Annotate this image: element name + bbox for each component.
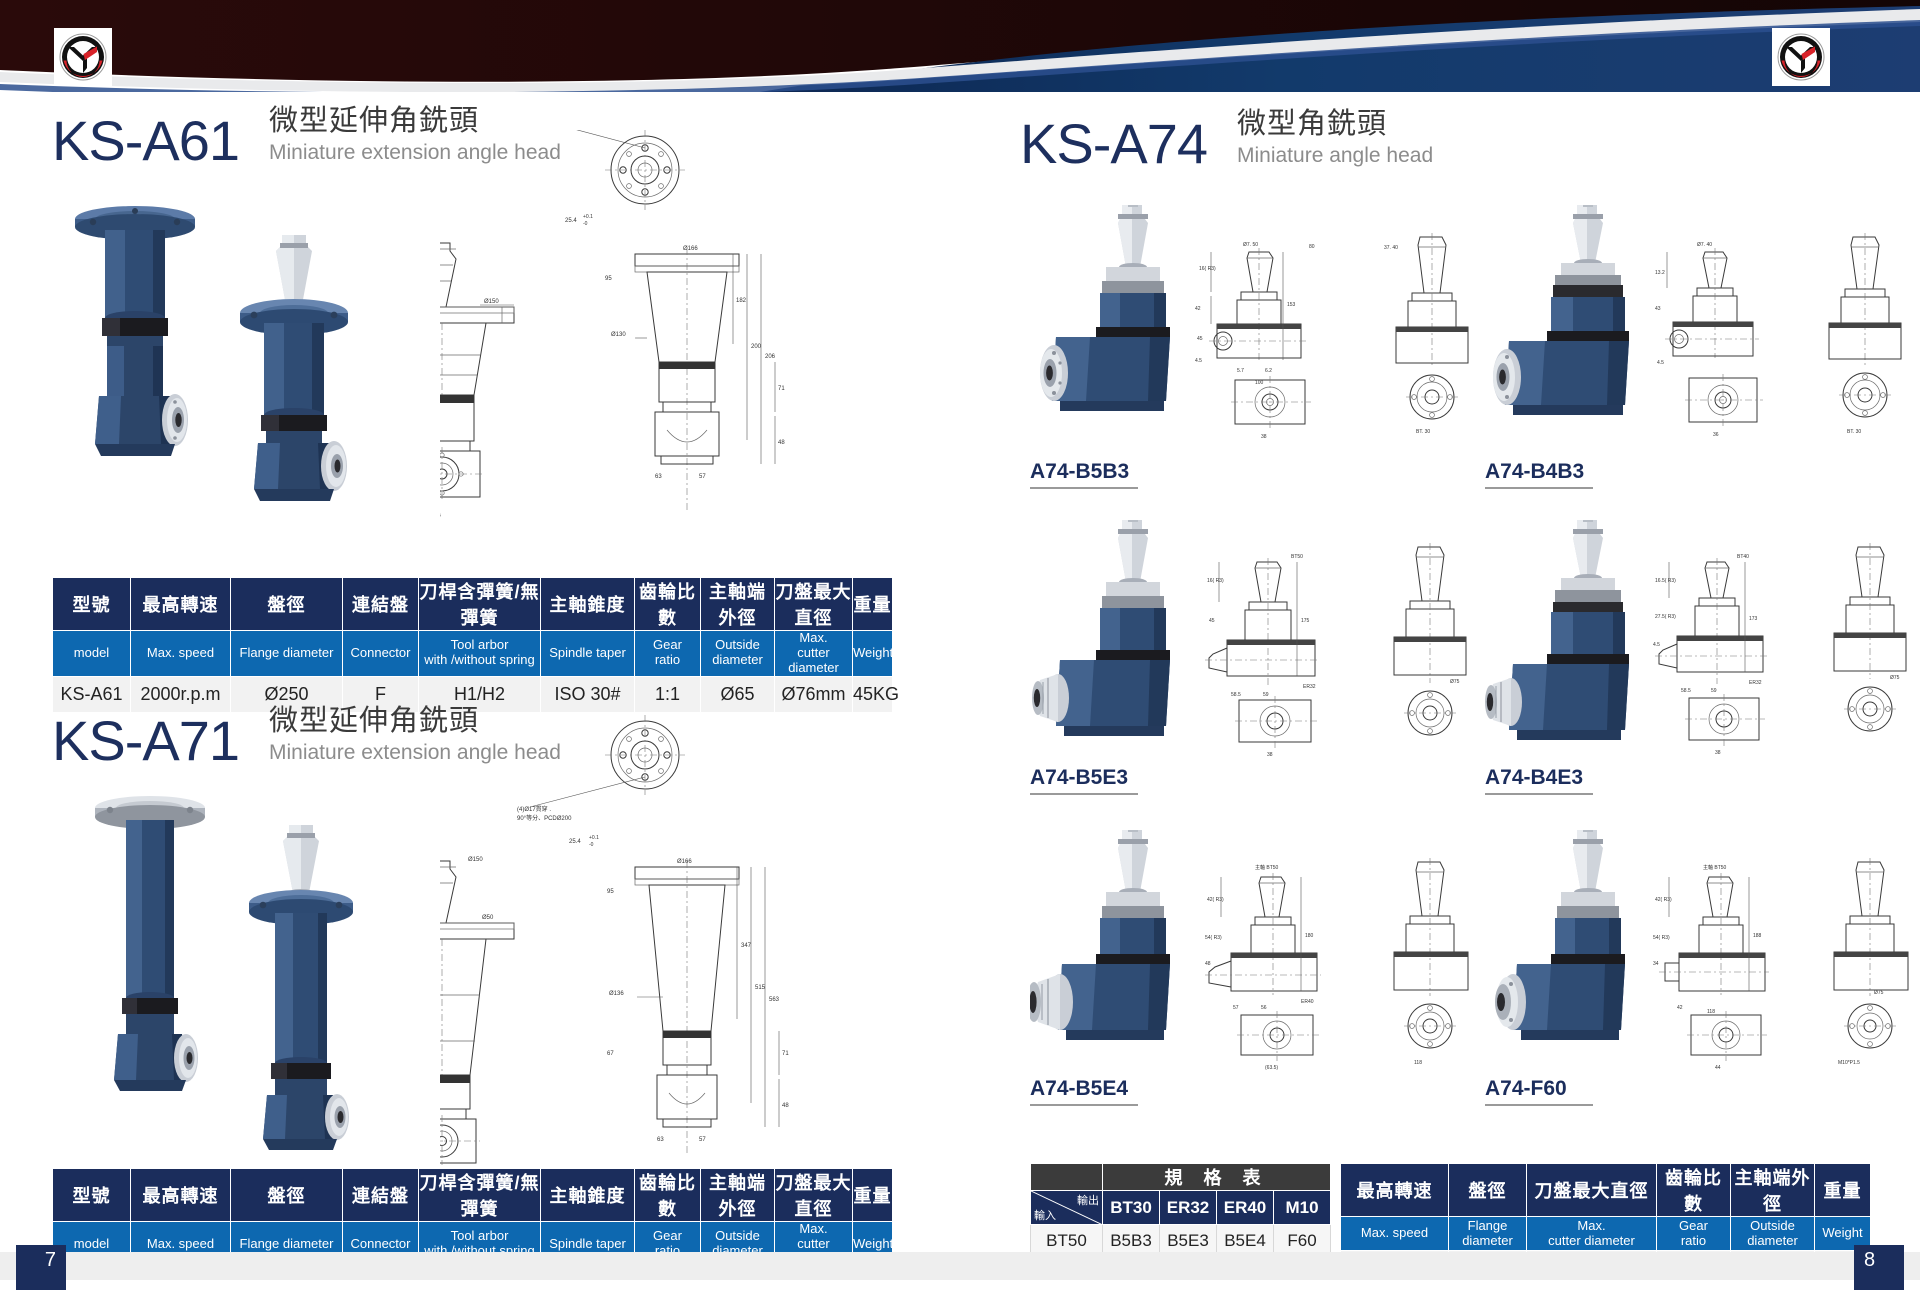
- variant-label-a74-b4b3: A74-B4B3: [1485, 460, 1593, 489]
- technical-drawing-a74-f60: 主軸 BT50 42( R3) 54( R3) 34 42 188 118: [1645, 855, 1820, 1080]
- variant-label-a74-b5e4: A74-B5E4: [1030, 1077, 1138, 1106]
- svg-text:80: 80: [1309, 244, 1315, 250]
- banner-graphic: [0, 0, 1920, 92]
- svg-text:118: 118: [1414, 1060, 1422, 1066]
- technical-drawing-a74-b5b3: Ø7. 50 16( R3) 42 45 4.5 5.7 6.2: [1195, 230, 1375, 455]
- th-cn-flange-dia: 盤徑: [1449, 1164, 1527, 1217]
- table-header-row-en: model Max. speed Flange diameter Connect…: [53, 631, 893, 677]
- svg-text:57: 57: [699, 474, 706, 480]
- svg-text:主軸 BT50: 主軸 BT50: [1255, 864, 1279, 871]
- technical-drawing-a74-b5e3: BT50 16( R3) 45 ER32 58.5 59 175: [1195, 540, 1375, 775]
- underline-rule: [1030, 793, 1138, 795]
- variant-code: A74-B4E3: [1485, 766, 1583, 793]
- product-code: KS-A61: [52, 113, 239, 169]
- variant-code: A74-F60: [1485, 1077, 1567, 1104]
- technical-drawing-a74-b4e3-side: Ø75: [1805, 535, 1920, 775]
- svg-text:57: 57: [1233, 1005, 1239, 1011]
- svg-text:45: 45: [1197, 336, 1203, 342]
- svg-text:48: 48: [782, 1103, 789, 1109]
- table-header-row-cn: 型號 最高轉速 盤徑 連結盤 刀桿含彈簧/無彈簧 主軸錐度 齒輪比數 主軸端外徑…: [53, 578, 893, 631]
- svg-text:BT50: BT50: [1291, 554, 1303, 560]
- svg-text:Ø75: Ø75: [1874, 990, 1884, 996]
- matrix-axis-output-label: 輸出: [1077, 1192, 1099, 1208]
- svg-text:13.2: 13.2: [1655, 270, 1665, 276]
- th-en-connector: Connector: [343, 631, 419, 677]
- svg-text:42( R3): 42( R3): [1207, 897, 1224, 903]
- technical-drawing-a74-b4b3-side: BT. 30: [1800, 225, 1920, 455]
- svg-text:36: 36: [1713, 432, 1719, 438]
- th-cn-max-cutter: 刀盤最大直徑: [775, 1169, 853, 1222]
- company-logo-icon: [1774, 30, 1828, 84]
- matrix-col-bt30: BT30: [1103, 1191, 1160, 1225]
- th-cn-gear-ratio: 齒輪比數: [635, 1169, 701, 1222]
- th-en-max-cutter: Max. cutter diameter: [1527, 1217, 1657, 1251]
- svg-text:Ø50: Ø50: [482, 915, 494, 921]
- svg-text:173: 173: [1749, 616, 1758, 622]
- svg-text:45: 45: [1209, 618, 1215, 624]
- svg-text:54( R3): 54( R3): [1205, 935, 1222, 941]
- th-en-weight: Weight: [853, 631, 893, 677]
- svg-text:100: 100: [1255, 380, 1264, 386]
- svg-text:188: 188: [1753, 933, 1762, 939]
- svg-text:71: 71: [782, 1051, 789, 1057]
- variant-code: A74-B5E3: [1030, 766, 1128, 793]
- svg-text:-0: -0: [589, 842, 594, 848]
- th-cn-flange-dia: 盤徑: [231, 1169, 343, 1222]
- cell-max-cutter: Ø76mm: [775, 676, 853, 712]
- svg-text:153: 153: [1287, 302, 1296, 308]
- th-cn-weight: 重量: [1815, 1164, 1871, 1217]
- svg-text:5.7: 5.7: [1237, 368, 1244, 374]
- svg-text:+0.1: +0.1: [583, 214, 593, 220]
- cell-outside-dia: Ø65: [701, 676, 775, 712]
- th-cn-connector: 連結盤: [343, 1169, 419, 1222]
- th-en-max-speed: Max. speed: [131, 631, 231, 677]
- product-photo-a74-b5e3: [1030, 520, 1195, 775]
- th-cn-model: 型號: [53, 578, 131, 631]
- th-cn-max-speed: 最高轉速: [131, 1169, 231, 1222]
- underline-rule: [1485, 1104, 1593, 1106]
- footer-band: [0, 1252, 1920, 1280]
- technical-drawing-ks-a61: (4)Ø17貫穿 . 90°等分、PCDØ200 25.4 +0.1 -0 BT…: [440, 130, 840, 550]
- svg-text:ER40: ER40: [1301, 999, 1314, 1005]
- svg-text:ER32: ER32: [1303, 684, 1316, 690]
- svg-text:Ø150: Ø150: [484, 299, 499, 305]
- product-code: KS-A74: [1020, 116, 1207, 172]
- product-photo-ks-a71-unit-a: [70, 790, 230, 1140]
- catalog-spread: KS-A61 微型延伸角銑頭 Miniature extension angle…: [0, 0, 1920, 1311]
- svg-text:59: 59: [1711, 688, 1717, 694]
- svg-text:58.5: 58.5: [1681, 688, 1691, 694]
- th-en-outside-dia: Outside diameter: [1731, 1217, 1815, 1251]
- variant-label-a74-f60: A74-F60: [1485, 1077, 1593, 1106]
- svg-text:Ø75: Ø75: [1450, 679, 1460, 685]
- svg-text:59: 59: [1263, 692, 1269, 698]
- svg-text:96: 96: [440, 513, 441, 519]
- company-logo: [54, 28, 112, 86]
- svg-text:42: 42: [1677, 1005, 1683, 1011]
- th-cn-max-speed: 最高轉速: [1341, 1164, 1449, 1217]
- svg-text:90°等分、PCDØ200: 90°等分、PCDØ200: [517, 814, 572, 822]
- svg-text:63: 63: [657, 1137, 664, 1143]
- th-en-flange-dia: Flange diameter: [231, 631, 343, 677]
- svg-text:43: 43: [1655, 306, 1661, 312]
- svg-text:34: 34: [1653, 961, 1659, 967]
- th-cn-weight: 重量: [853, 1169, 893, 1222]
- product-title-ks-a74: KS-A74 微型角銑頭 Miniature angle head: [1020, 108, 1433, 172]
- table-header-row-cn: 型號 最高轉速 盤徑 連結盤 刀桿含彈簧/無彈簧 主軸錐度 齒輪比數 主軸端外徑…: [53, 1169, 893, 1222]
- svg-text:+0.1: +0.1: [589, 835, 599, 841]
- matrix-title-row: 規 格 表: [1031, 1164, 1331, 1191]
- svg-text:54( R3): 54( R3): [1653, 935, 1670, 941]
- svg-text:63: 63: [655, 474, 662, 480]
- svg-text:Ø75: Ø75: [1890, 675, 1900, 681]
- th-cn-gear-ratio: 齒輪比數: [1657, 1164, 1731, 1217]
- th-cn-spindle-taper: 主軸錐度: [541, 578, 635, 631]
- variant-label-a74-b5e3: A74-B5E3: [1030, 766, 1138, 795]
- th-en-max-cutter: Max. cutter diameter: [775, 631, 853, 677]
- product-photo-a74-b5b3: [1030, 205, 1190, 450]
- svg-text:206: 206: [765, 354, 776, 360]
- svg-text:(4)Ø17貫穿 .: (4)Ø17貫穿 .: [517, 805, 551, 813]
- th-en-outside-dia: Outside diameter: [701, 631, 775, 677]
- th-en-gear-ratio: Gear ratio: [1657, 1217, 1731, 1251]
- matrix-axis-corner: 輸出 輸入: [1031, 1191, 1103, 1225]
- product-photo-ks-a61-unit-b: [210, 235, 380, 535]
- svg-text:48: 48: [778, 440, 785, 446]
- technical-drawing-a74-b4e3: BT40 16.5( R3) 27.5( R3) ER32 58.5 59 17…: [1645, 540, 1820, 775]
- underline-rule: [1030, 487, 1138, 489]
- th-cn-connector: 連結盤: [343, 578, 419, 631]
- th-en-spindle-taper: Spindle taper: [541, 631, 635, 677]
- svg-text:4.5: 4.5: [1195, 358, 1202, 364]
- svg-text:48: 48: [1205, 961, 1211, 967]
- svg-text:38: 38: [1261, 434, 1267, 440]
- svg-text:42: 42: [1195, 306, 1201, 312]
- svg-text:180: 180: [1305, 933, 1314, 939]
- page-number-left: 7: [16, 1245, 66, 1290]
- svg-text:37. 40: 37. 40: [1384, 245, 1398, 251]
- th-cn-max-speed: 最高轉速: [131, 578, 231, 631]
- svg-text:4.5: 4.5: [1657, 360, 1664, 366]
- svg-text:Ø7. 40: Ø7. 40: [1697, 242, 1712, 248]
- technical-drawing-a74-b4b3: Ø7. 40 13.2 43 4.5: [1645, 230, 1815, 455]
- table-header-row-en: Max. speed Flange diameter Max. cutter d…: [1341, 1217, 1871, 1251]
- svg-text:44: 44: [1715, 1065, 1721, 1071]
- svg-text:6.2: 6.2: [1265, 368, 1272, 374]
- cell-gear-ratio: 1:1: [635, 676, 701, 712]
- th-cn-model: 型號: [53, 1169, 131, 1222]
- spec-table-ks-a61: 型號 最高轉速 盤徑 連結盤 刀桿含彈簧/無彈簧 主軸錐度 齒輪比數 主軸端外徑…: [52, 577, 893, 713]
- product-photo-a74-b4e3: [1485, 520, 1650, 775]
- svg-text:Ø7. 50: Ø7. 50: [1243, 242, 1258, 248]
- svg-text:25.4: 25.4: [569, 839, 581, 845]
- svg-text:175: 175: [1301, 618, 1310, 624]
- product-photo-ks-a71-unit-b: [215, 825, 385, 1165]
- th-cn-tool-arbor: 刀桿含彈簧/無彈簧: [419, 578, 541, 631]
- svg-text:118: 118: [1707, 1009, 1715, 1015]
- matrix-axis-input-label: 輸入: [1034, 1207, 1056, 1223]
- product-photo-a74-f60: [1485, 830, 1650, 1080]
- product-name-group: 微型角銑頭 Miniature angle head: [1237, 108, 1433, 172]
- svg-text:BT. 30: BT. 30: [1416, 429, 1430, 435]
- page-number-right: 8: [1854, 1245, 1904, 1290]
- product-photo-a74-b4b3: [1485, 205, 1645, 450]
- svg-text:-0: -0: [583, 221, 588, 227]
- technical-drawing-a74-b5e4-side: 118: [1360, 850, 1490, 1080]
- technical-drawing-ks-a71: (4)Ø17貫穿 . 90°等分、PCDØ200 25.4 +0.1 -0 BT…: [440, 715, 840, 1165]
- svg-text:Ø166: Ø166: [683, 246, 698, 252]
- table-header-row-cn: 最高轉速 盤徑 刀盤最大直徑 齒輪比數 主軸端外徑 重量: [1341, 1164, 1871, 1217]
- svg-text:4.5: 4.5: [1653, 642, 1660, 648]
- th-cn-weight: 重量: [853, 578, 893, 631]
- cell-weight: 45KG: [853, 676, 893, 712]
- variant-code: A74-B5B3: [1030, 460, 1129, 487]
- svg-text:182: 182: [736, 298, 747, 304]
- th-cn-max-cutter: 刀盤最大直徑: [775, 578, 853, 631]
- product-photo-a74-b5e4: [1030, 830, 1195, 1080]
- svg-text:95: 95: [607, 889, 614, 895]
- svg-text:42( R3): 42( R3): [1655, 897, 1672, 903]
- svg-text:56: 56: [1261, 1005, 1267, 1011]
- underline-rule: [1030, 1104, 1138, 1106]
- footer-white-strip: [0, 1280, 1920, 1311]
- technical-drawing-a74-b5e4: 主軸 BT50 42( R3) 54( R3) ER40 57 56 180 4…: [1195, 855, 1375, 1080]
- matrix-col-m10: M10: [1274, 1191, 1331, 1225]
- product-code: KS-A71: [52, 713, 239, 769]
- technical-drawing-a74-f60-side: Ø75 M10*P1.5: [1805, 850, 1920, 1080]
- technical-drawing-a74-b5b3-side: 37. 40 BT. 30: [1360, 225, 1490, 455]
- th-en-model: model: [53, 631, 131, 677]
- svg-text:ER32: ER32: [1749, 680, 1762, 686]
- th-en-tool-arbor: Tool arbor with /without spring: [419, 631, 541, 677]
- svg-text:BT. 30: BT. 30: [1847, 429, 1861, 435]
- svg-text:主軸 BT50: 主軸 BT50: [1703, 864, 1727, 871]
- svg-text:M10*P1.5: M10*P1.5: [1838, 1060, 1860, 1066]
- variant-code: A74-B5E4: [1030, 1077, 1128, 1104]
- svg-text:Ø136: Ø136: [609, 991, 624, 997]
- svg-text:Ø130: Ø130: [611, 332, 626, 338]
- th-cn-outside-dia: 主軸端外徑: [701, 1169, 775, 1222]
- svg-text:58.5: 58.5: [1231, 692, 1241, 698]
- variant-label-a74-b4e3: A74-B4E3: [1485, 766, 1593, 795]
- variant-code: A74-B4B3: [1485, 460, 1584, 487]
- svg-text:16.5( R3): 16.5( R3): [1655, 578, 1676, 584]
- product-name-en: Miniature angle head: [1237, 143, 1433, 168]
- matrix-col-er40: ER40: [1217, 1191, 1274, 1225]
- product-photo-ks-a61-unit-a: [55, 200, 215, 520]
- th-en-max-speed: Max. speed: [1341, 1217, 1449, 1251]
- svg-text:(63.5): (63.5): [1265, 1065, 1278, 1071]
- th-cn-gear-ratio: 齒輪比數: [635, 578, 701, 631]
- matrix-col-er32: ER32: [1160, 1191, 1217, 1225]
- svg-text:67: 67: [607, 1051, 614, 1057]
- svg-text:563: 563: [769, 997, 780, 1003]
- svg-text:38: 38: [1267, 752, 1273, 758]
- svg-text:16( R3): 16( R3): [1199, 266, 1216, 272]
- svg-text:347: 347: [741, 943, 752, 949]
- page-header-banner: [0, 0, 1920, 92]
- underline-rule: [1485, 793, 1593, 795]
- th-cn-outside-dia: 主軸端外徑: [1731, 1164, 1815, 1217]
- product-name-cn: 微型角銑頭: [1237, 108, 1433, 141]
- svg-text:16( R3): 16( R3): [1207, 578, 1224, 584]
- svg-text:38: 38: [1715, 750, 1721, 756]
- company-logo-icon: [56, 30, 110, 84]
- svg-text:95: 95: [605, 276, 612, 282]
- th-cn-flange-dia: 盤徑: [231, 578, 343, 631]
- th-en-gear-ratio: Gear ratio: [635, 631, 701, 677]
- svg-text:200: 200: [751, 344, 762, 350]
- svg-text:27.5( R3): 27.5( R3): [1655, 614, 1676, 620]
- th-en-flange-dia: Flange diameter: [1449, 1217, 1527, 1251]
- svg-text:BT40: BT40: [1737, 554, 1749, 560]
- th-cn-spindle-taper: 主軸錐度: [541, 1169, 635, 1222]
- company-logo: [1772, 28, 1830, 86]
- technical-drawing-a74-b5e3-side: Ø75: [1360, 535, 1490, 775]
- svg-text:Ø150: Ø150: [468, 857, 483, 863]
- th-cn-outside-dia: 主軸端外徑: [701, 578, 775, 631]
- matrix-title: 規 格 表: [1103, 1164, 1331, 1191]
- th-cn-max-cutter: 刀盤最大直徑: [1527, 1164, 1657, 1217]
- svg-text:515: 515: [755, 985, 766, 991]
- underline-rule: [1485, 487, 1593, 489]
- matrix-header-row: 輸出 輸入 BT30 ER32 ER40 M10: [1031, 1191, 1331, 1225]
- svg-text:25.4: 25.4: [565, 218, 577, 224]
- th-cn-tool-arbor: 刀桿含彈簧/無彈簧: [419, 1169, 541, 1222]
- svg-text:Ø166: Ø166: [677, 859, 692, 865]
- matrix-corner-spacer: [1031, 1164, 1103, 1191]
- variant-label-a74-b5b3: A74-B5B3: [1030, 460, 1138, 489]
- svg-text:71: 71: [778, 386, 785, 392]
- svg-text:57: 57: [699, 1137, 706, 1143]
